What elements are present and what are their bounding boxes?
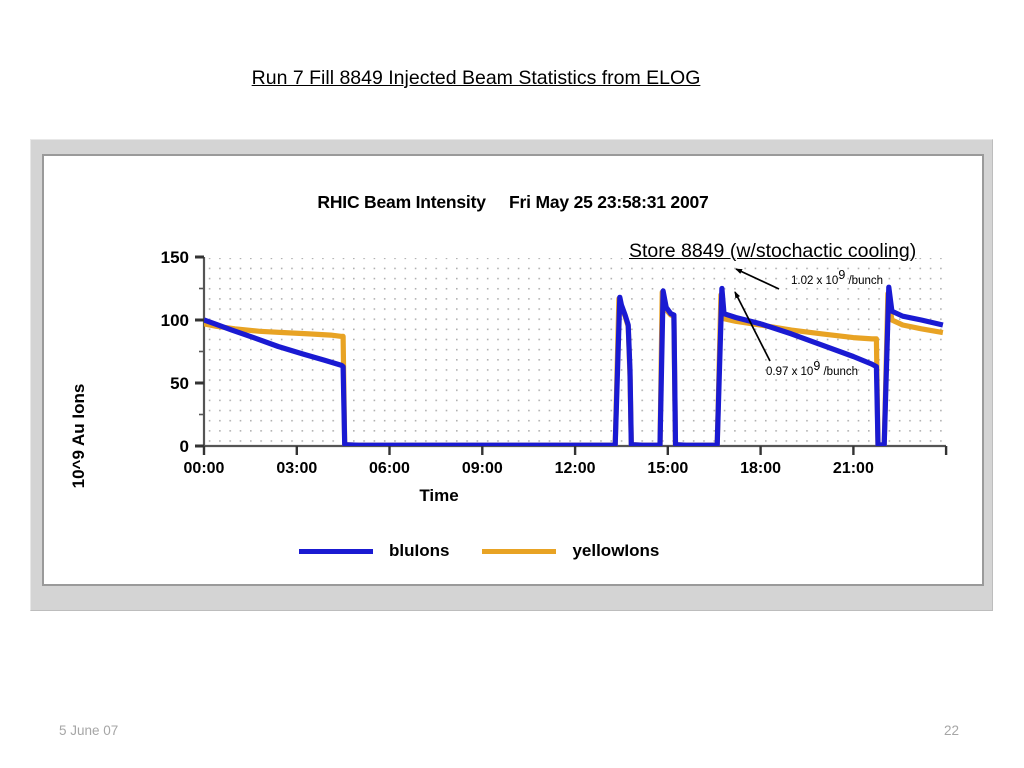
x-axis-title: Time [44, 486, 834, 506]
xtick-label-1200: 12:00 [535, 460, 615, 478]
ytick-label-100: 100 [129, 312, 189, 329]
xtick-label-2100: 21:00 [813, 460, 893, 478]
slide-title-text: Run 7 Fill 8849 Injected Beam Statistics… [252, 67, 701, 89]
legend-swatch-blue [299, 549, 373, 554]
ytick-label-50: 50 [129, 375, 189, 392]
chart-legend: bluIons yellowIons [299, 541, 819, 561]
bunch-intensity-top-label: 1.02 x 109 /bunch [791, 275, 883, 287]
legend-label-bluions: bluIons [389, 541, 449, 561]
legend-entry-yellowions: yellowIons [482, 541, 659, 561]
bunch-bottom-value: 0.97 x 10 [766, 366, 813, 378]
xtick-label-0900: 09:00 [442, 460, 522, 478]
footer-page-number: 22 [944, 723, 959, 738]
slide-title: Run 7 Fill 8849 Injected Beam Statistics… [230, 33, 930, 123]
legend-swatch-orange [482, 549, 556, 554]
legend-entry-bluions: bluIons [299, 541, 449, 561]
xtick-label-1500: 15:00 [628, 460, 708, 478]
ytick-label-0: 0 [129, 438, 189, 455]
chart-panel: RHIC Beam Intensity Fri May 25 23:58:31 … [42, 154, 984, 586]
xtick-label-0300: 03:00 [257, 460, 337, 478]
xtick-label-0000: 00:00 [164, 460, 244, 478]
footer-date: 5 June 07 [59, 723, 118, 738]
store-annotation-label: Store 8849 (w/stochactic cooling) [629, 240, 916, 263]
xtick-label-0600: 06:00 [350, 460, 430, 478]
bunch-intensity-bottom-label: 0.97 x 109 /bunch [766, 366, 858, 378]
embedded-chart-frame: RHIC Beam Intensity Fri May 25 23:58:31 … [30, 139, 993, 611]
bunch-top-value: 1.02 x 10 [791, 275, 838, 287]
ytick-label-150: 150 [129, 249, 189, 266]
xtick-label-1800: 18:00 [721, 460, 801, 478]
bunch-top-unit: /bunch [845, 275, 883, 287]
bunch-bottom-unit: /bunch [820, 366, 858, 378]
legend-label-yellowions: yellowIons [572, 541, 659, 561]
